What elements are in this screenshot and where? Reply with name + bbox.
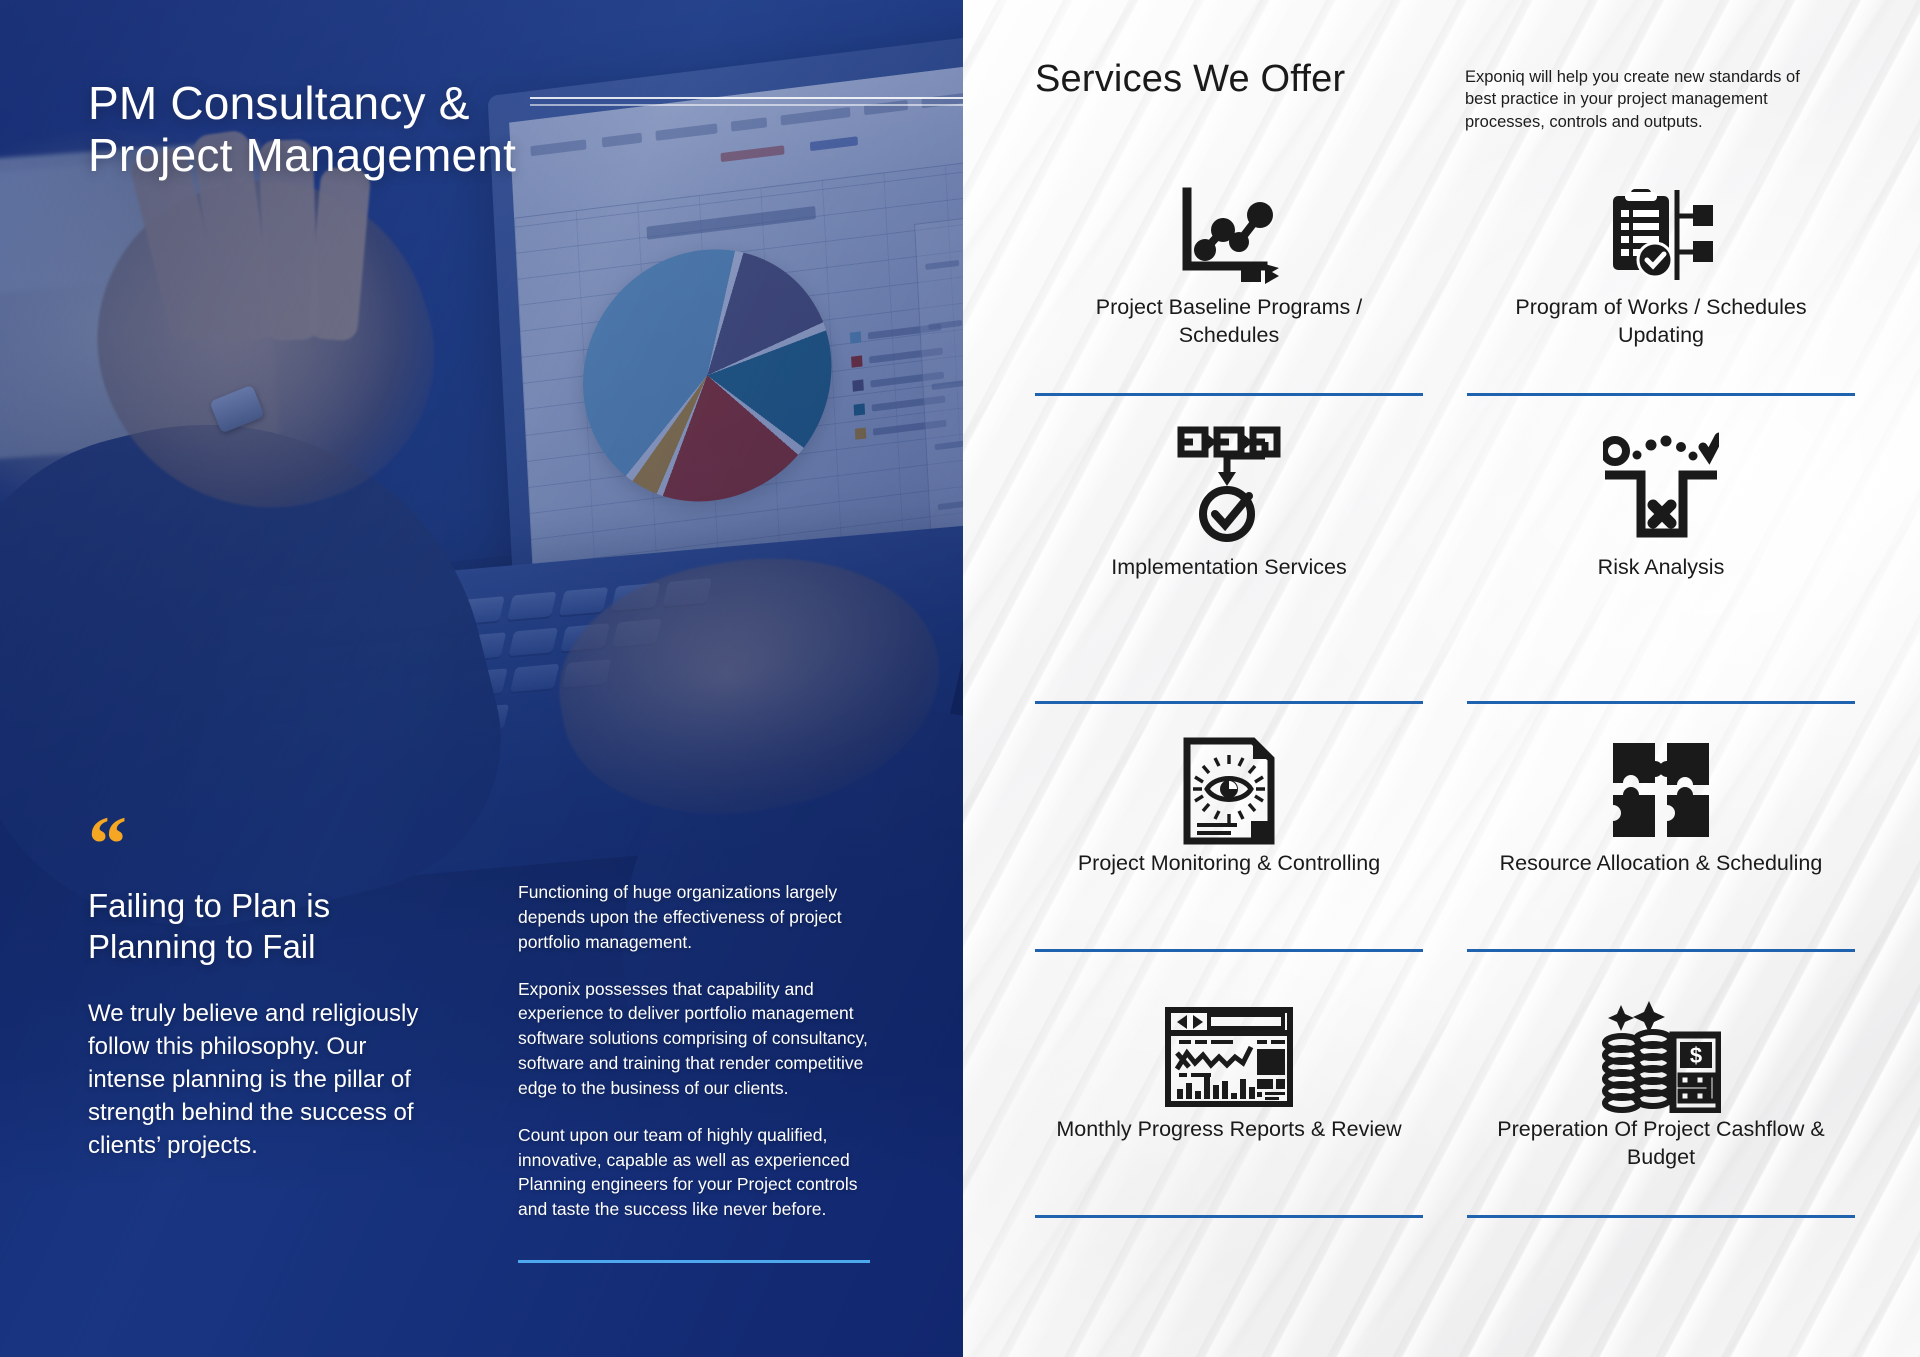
services-row-4: Monthly Progress Reports & Review bbox=[1035, 998, 1855, 1236]
service-card-project-baseline-programs[interactable]: Project Baseline Programs / Schedules bbox=[1035, 176, 1445, 414]
service-divider bbox=[1035, 949, 1423, 952]
service-label: Project Baseline Programs / Schedules bbox=[1035, 294, 1423, 350]
puzzle-pieces-icon bbox=[1609, 732, 1713, 850]
service-card-risk-analysis[interactable]: Risk Analysis bbox=[1445, 414, 1855, 696]
services-grid: Project Baseline Programs / Schedules bbox=[1035, 176, 1855, 1236]
svg-text:$: $ bbox=[1690, 1043, 1702, 1068]
service-card-project-monitoring[interactable]: Project Monitoring & Controlling bbox=[1035, 732, 1445, 970]
services-row-3: Project Monitoring & Controlling Resourc… bbox=[1035, 732, 1855, 970]
services-panel: Services We Offer Exponiq will help you … bbox=[963, 0, 1920, 1357]
service-divider bbox=[1467, 393, 1855, 396]
services-subtitle: Exponiq will help you create new standar… bbox=[1465, 58, 1805, 133]
page-title-line-2: Project Management bbox=[88, 130, 648, 182]
document-eye-icon bbox=[1181, 732, 1277, 850]
service-card-monthly-progress-reports[interactable]: Monthly Progress Reports & Review bbox=[1035, 998, 1445, 1236]
intro-paragraph-3: Count upon our team of highly qualified,… bbox=[518, 1123, 878, 1222]
service-divider bbox=[1035, 393, 1423, 396]
service-label: Monthly Progress Reports & Review bbox=[1044, 1116, 1413, 1144]
quote-heading-line-1: Failing to Plan is bbox=[88, 886, 448, 926]
service-divider bbox=[1467, 949, 1855, 952]
line-chart-flag-icon bbox=[1177, 176, 1281, 294]
quote-heading-line-2: Planning to Fail bbox=[88, 927, 448, 967]
service-card-resource-allocation[interactable]: Resource Allocation & Scheduling bbox=[1445, 732, 1855, 970]
intro-text-column: Functioning of huge organizations largel… bbox=[518, 880, 878, 1263]
services-row-1: Project Baseline Programs / Schedules bbox=[1035, 176, 1855, 414]
brochure-page: PM Consultancy & Project Management “ Fa… bbox=[0, 0, 1920, 1357]
service-card-cashflow-budget[interactable]: $ Preperation Of Project Cashflow & Budg… bbox=[1445, 998, 1855, 1236]
intro-paragraph-1: Functioning of huge organizations largel… bbox=[518, 880, 878, 955]
clipboard-check-flow-icon bbox=[1607, 176, 1715, 294]
risk-pit-path-icon bbox=[1603, 414, 1719, 554]
service-divider bbox=[1467, 701, 1855, 704]
quote-block: “ Failing to Plan is Planning to Fail We… bbox=[88, 820, 448, 1162]
quote-heading: Failing to Plan is Planning to Fail bbox=[88, 886, 448, 967]
services-header: Services We Offer Exponiq will help you … bbox=[1035, 58, 1884, 133]
intro-rule bbox=[518, 1260, 870, 1263]
intro-paragraph-2: Exponix possesses that capability and ex… bbox=[518, 977, 878, 1101]
service-label: Program of Works / Schedules Updating bbox=[1467, 294, 1855, 350]
title-rule bbox=[530, 97, 963, 107]
page-title: PM Consultancy & Project Management bbox=[88, 78, 648, 181]
left-hero-panel: PM Consultancy & Project Management “ Fa… bbox=[0, 0, 963, 1357]
dashboard-report-icon bbox=[1165, 998, 1293, 1116]
service-label: Implementation Services bbox=[1099, 554, 1358, 582]
service-card-program-of-works[interactable]: Program of Works / Schedules Updating bbox=[1445, 176, 1855, 414]
service-label: Project Monitoring & Controlling bbox=[1066, 850, 1392, 878]
quote-mark-icon: “ bbox=[88, 820, 448, 868]
service-divider bbox=[1035, 1215, 1423, 1218]
services-row-2: Implementation Services bbox=[1035, 414, 1855, 696]
service-label: Resource Allocation & Scheduling bbox=[1488, 850, 1835, 878]
service-label: Preperation Of Project Cashflow & Budget bbox=[1467, 1116, 1855, 1172]
process-flow-check-icon bbox=[1177, 414, 1281, 554]
coins-calculator-icon: $ bbox=[1601, 998, 1721, 1116]
services-title: Services We Offer bbox=[1035, 58, 1465, 133]
service-divider bbox=[1467, 1215, 1855, 1218]
service-card-implementation-services[interactable]: Implementation Services bbox=[1035, 414, 1445, 696]
quote-body-text: We truly believe and religiously follow … bbox=[88, 997, 448, 1163]
service-label: Risk Analysis bbox=[1586, 554, 1737, 582]
service-divider bbox=[1035, 701, 1423, 704]
